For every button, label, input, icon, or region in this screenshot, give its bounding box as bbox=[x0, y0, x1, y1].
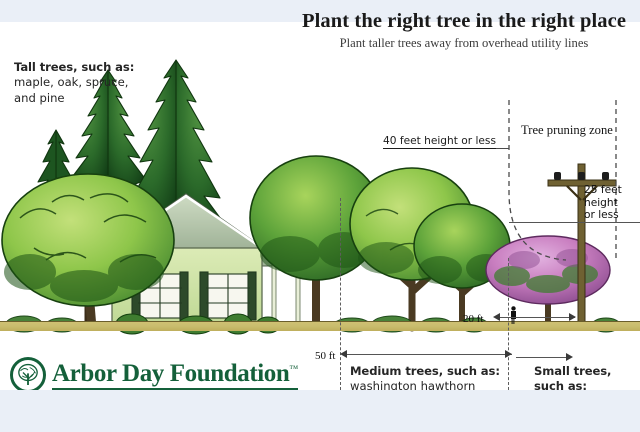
label-25-line3: or less bbox=[584, 209, 640, 222]
dim-50-arrow-right bbox=[505, 350, 512, 358]
callout-tall-line1: maple, oak, spruce, bbox=[14, 75, 214, 90]
label-25-line1: 25 feet bbox=[584, 184, 640, 197]
illustration-canvas: 40 feet height or less 25 feet height or… bbox=[0, 22, 640, 390]
label-25-feet: 25 feet height or less bbox=[584, 184, 640, 222]
callout-medium-trees: Medium trees, such as: washington hawtho… bbox=[350, 364, 500, 390]
ground-strip bbox=[0, 322, 640, 331]
small-zone-arrow bbox=[566, 353, 573, 361]
label-25-line2: height bbox=[584, 197, 640, 210]
logo-trademark: ™ bbox=[289, 363, 297, 373]
person-silhouette bbox=[510, 306, 517, 324]
divider-tall-medium bbox=[340, 198, 341, 390]
height-25-rule bbox=[509, 222, 640, 223]
small-zone-line bbox=[516, 357, 570, 358]
callout-medium-line1: washington hawthorn bbox=[350, 379, 500, 390]
label-40-feet: 40 feet height or less bbox=[383, 135, 496, 149]
label-20-feet: 20 ft bbox=[463, 313, 483, 325]
dim-20-arrow-left bbox=[493, 313, 500, 321]
page-title: Plant the right tree in the right place bbox=[288, 10, 640, 33]
small-flowering-tree bbox=[486, 236, 610, 328]
divider-medium-small bbox=[508, 258, 509, 390]
infographic-root: 40 feet height or less 25 feet height or… bbox=[0, 0, 640, 432]
callout-medium-heading: Medium trees, such as: bbox=[350, 364, 500, 379]
callout-small-trees: Small trees, such as: redbud, dogwood, a… bbox=[534, 364, 640, 390]
callout-tall-heading: Tall trees, such as: bbox=[14, 60, 214, 75]
dim-50-arrow-left bbox=[340, 350, 347, 358]
callout-tall-trees: Tall trees, such as: maple, oak, spruce,… bbox=[14, 60, 214, 106]
callout-tall-line2: and pine bbox=[14, 91, 214, 106]
dim-20-arrow-right bbox=[569, 313, 576, 321]
tree-in-circle-icon bbox=[10, 357, 46, 390]
dim-50-line bbox=[344, 354, 512, 355]
label-50-feet: 50 ft bbox=[315, 350, 335, 362]
arbor-day-foundation-logo[interactable]: Arbor Day Foundation™ bbox=[10, 357, 298, 390]
logo-wordmark: Arbor Day Foundation™ bbox=[52, 361, 298, 390]
label-tree-pruning-zone: Tree pruning zone bbox=[521, 123, 613, 138]
callout-small-heading: Small trees, such as: bbox=[534, 364, 640, 390]
page-subtitle: Plant taller trees away from overhead ut… bbox=[288, 36, 640, 51]
dim-20-line bbox=[497, 317, 575, 318]
logo-organization-name: Arbor Day Foundation bbox=[52, 360, 289, 387]
